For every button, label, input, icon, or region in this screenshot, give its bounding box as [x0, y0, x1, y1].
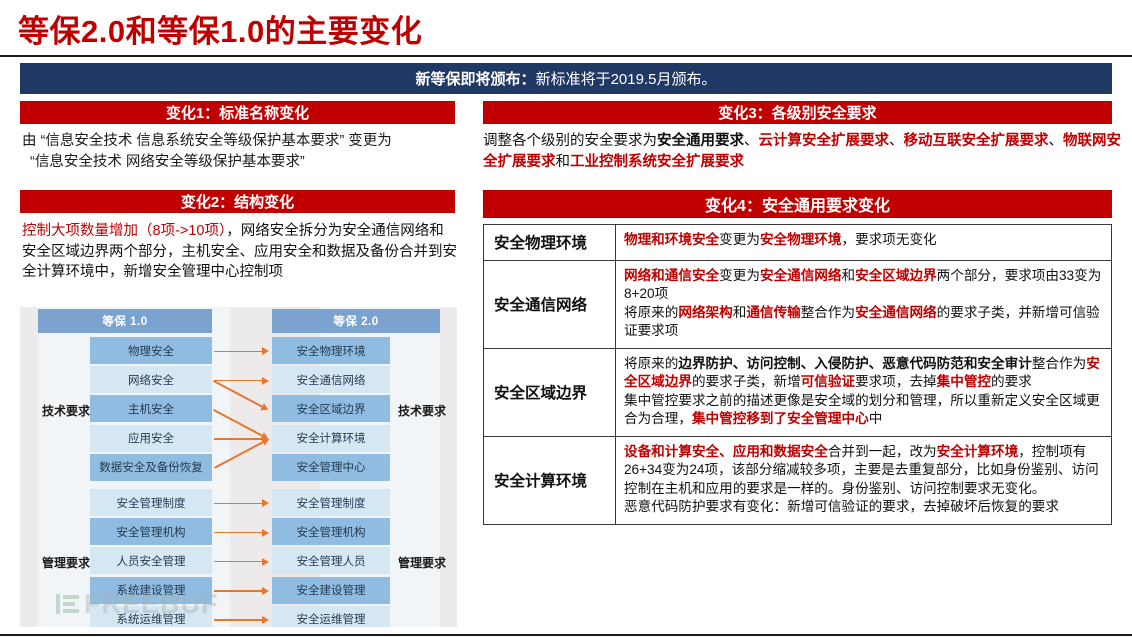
diagram-left-item: 物理安全 — [90, 337, 212, 364]
change3-seg-1: 安全通用要求 — [657, 133, 744, 149]
diagram-right-item: 安全物理环境 — [272, 337, 390, 364]
table-row-value: 网络和通信安全变更为安全通信网络和安全区域边界两个部分，要求项由33变为8+20… — [616, 261, 1112, 349]
change2-body: 控制大项数量增加（8项->10项），网络安全拆分为安全通信网络和安全区域边界两个… — [22, 221, 458, 283]
table-cell-paragraph: 恶意代码防护要求有变化：新增可信验证的要求，去掉破坏后恢复的要求 — [624, 498, 1104, 516]
diagram-right-item: 安全通信网络 — [272, 366, 390, 393]
r2p0-seg-6: 要求项，去掉 — [855, 374, 937, 389]
change3-seg-2: 、 — [744, 133, 759, 149]
r2p1-seg-1: 集中管控移到了安全管理中心 — [692, 411, 869, 426]
diagram-side-label: 技术要求 — [398, 402, 446, 419]
announcement-banner: 新等保即将颁布：新标准将于2019.5月颁布。 — [20, 63, 1112, 94]
diagram-right-item: 安全运维管理 — [272, 606, 390, 627]
table-cell-paragraph: 集中管控要求之前的描述更像是安全域的划分和管理，所以重新定义安全区域更合为合理，… — [624, 392, 1104, 429]
table-row-value: 物理和环境安全变更为安全物理环境，要求项无变化 — [616, 225, 1112, 261]
change3-seg-5: 移动互联安全扩展要求 — [904, 133, 1049, 149]
diagram-left-item: 安全管理机构 — [90, 518, 212, 545]
table-row-value: 将原来的边界防护、访问控制、入侵防护、恶意代码防范和安全审计整合作为安全区域边界… — [616, 348, 1112, 436]
r3p0-seg-1: 合并到一起，改为 — [828, 444, 937, 459]
r2p0-seg-2: 整合作为 — [1032, 356, 1086, 371]
change4-table: 安全物理环境物理和环境安全变更为安全物理环境，要求项无变化安全通信网络网络和通信… — [483, 224, 1112, 525]
r1p0-seg-0: 网络和通信安全 — [624, 268, 719, 283]
diagram-side-label: 管理要求 — [398, 554, 446, 571]
r2p0-seg-8: 的要求 — [991, 374, 1032, 389]
r0p0-seg-2: 安全物理环境 — [760, 232, 842, 247]
r3p1-seg-0: 恶意代码防护要求有变化：新增可信验证的要求，去掉破坏后恢复的要求 — [624, 499, 1059, 514]
diagram-right-item: 安全管理制度 — [272, 489, 390, 516]
table-cell-paragraph: 网络和通信安全变更为安全通信网络和安全区域边界两个部分，要求项由33变为8+20… — [624, 267, 1104, 304]
section-header-change3: 变化3：各级别安全要求 — [483, 101, 1112, 124]
r0p0-seg-0: 物理和环境安全 — [624, 232, 719, 247]
change2-red-lead: 控制大项数量增加（8项->10项） — [22, 223, 226, 239]
r1p1-seg-2: 和 — [733, 305, 747, 320]
freebuf-watermark: FREEBUF — [84, 589, 219, 620]
bottom-divider — [0, 634, 1132, 636]
change3-seg-6: 、 — [1049, 133, 1064, 149]
r0p0-seg-3: ，要求项无变化 — [842, 232, 937, 247]
r2p0-seg-7: 集中管控 — [937, 374, 991, 389]
r1p1-seg-1: 网络架构 — [678, 305, 732, 320]
r2p0-seg-1: 边界防护、访问控制、入侵防护、恶意代码防范和安全审计 — [678, 356, 1031, 371]
r1p1-seg-0: 将原来的 — [624, 305, 678, 320]
change3-seg-9: 工业控制系统安全扩展要求 — [570, 154, 744, 170]
diagram-right-header: 等保 2.0 — [272, 309, 440, 333]
table-cell-paragraph: 设备和计算安全、应用和数据安全合并到一起，改为安全计算环境，控制项有26+34变… — [624, 443, 1104, 498]
diagram-right-item: 安全区域边界 — [272, 395, 390, 422]
diagram-right-item: 安全管理机构 — [272, 518, 390, 545]
change3-seg-0: 调整各个级别的安全要求为 — [483, 133, 657, 149]
r1p0-seg-2: 安全通信网络 — [760, 268, 842, 283]
table-row: 安全通信网络网络和通信安全变更为安全通信网络和安全区域边界两个部分，要求项由33… — [484, 261, 1112, 349]
r0p0-seg-1: 变更为 — [719, 232, 760, 247]
table-row: 安全计算环境设备和计算安全、应用和数据安全合并到一起，改为安全计算环境，控制项有… — [484, 436, 1112, 524]
table-cell-paragraph: 将原来的边界防护、访问控制、入侵防护、恶意代码防范和安全审计整合作为安全区域边界… — [624, 355, 1104, 392]
r1p0-seg-4: 安全区域边界 — [855, 268, 937, 283]
diagram-right-item: 安全管理中心 — [272, 454, 390, 481]
announcement-bold: 新等保即将颁布： — [416, 68, 536, 89]
table-cell-paragraph: 物理和环境安全变更为安全物理环境，要求项无变化 — [624, 231, 1104, 249]
page-title: 等保2.0和等保1.0的主要变化 — [18, 6, 422, 51]
section-header-change2: 变化2：结构变化 — [20, 190, 455, 213]
slide-root: 等保2.0和等保1.0的主要变化 新等保即将颁布：新标准将于2019.5月颁布。… — [0, 0, 1132, 638]
diagram-left-header: 等保 1.0 — [38, 309, 212, 333]
diagram-left-item: 网络安全 — [90, 366, 212, 393]
change1-line1: 由 “信息安全技术 信息系统安全等级保护基本要求” 变更为 — [22, 131, 462, 152]
table-row: 安全区域边界将原来的边界防护、访问控制、入侵防护、恶意代码防范和安全审计整合作为… — [484, 348, 1112, 436]
diagram-left-item: 人员安全管理 — [90, 547, 212, 574]
diagram-left-item: 数据安全及备份恢复 — [90, 454, 212, 481]
change3-seg-8: 和 — [556, 154, 571, 170]
r2p1-seg-2: 中 — [869, 411, 883, 426]
change1-body: 由 “信息安全技术 信息系统安全等级保护基本要求” 变更为 “信息安全技术 网络… — [22, 131, 462, 172]
diagram-left-item: 主机安全 — [90, 395, 212, 422]
change3-body: 调整各个级别的安全要求为安全通用要求、云计算安全扩展要求、移动互联安全扩展要求、… — [483, 131, 1123, 173]
diagram-left-item: 应用安全 — [90, 425, 212, 452]
r1p1-seg-5: 安全通信网络 — [855, 305, 937, 320]
table-row-key: 安全计算环境 — [484, 436, 616, 524]
r1p1-seg-3: 通信传输 — [746, 305, 800, 320]
r1p0-seg-1: 变更为 — [719, 268, 760, 283]
diagram-side-label: 管理要求 — [42, 554, 90, 571]
change3-seg-3: 云计算安全扩展要求 — [759, 133, 890, 149]
section-header-change1: 变化1：标准名称变化 — [20, 101, 455, 124]
watermark-bars — [56, 592, 82, 616]
section-header-change4: 变化4：安全通用要求变化 — [483, 190, 1112, 218]
diagram-side-label: 技术要求 — [42, 402, 90, 419]
table-row-key: 安全物理环境 — [484, 225, 616, 261]
table-row-key: 安全区域边界 — [484, 348, 616, 436]
announcement-rest: 新标准将于2019.5月颁布。 — [536, 68, 717, 89]
r2p0-seg-5: 可信验证 — [801, 374, 855, 389]
r1p1-seg-4: 整合作为 — [801, 305, 855, 320]
change1-line2: “信息安全技术 网络安全等级保护基本要求” — [22, 152, 462, 173]
r3p0-seg-0: 设备和计算安全、应用和数据安全 — [624, 444, 828, 459]
title-divider — [0, 55, 1132, 57]
r2p0-seg-4: 的要求子类，新增 — [692, 374, 801, 389]
diagram-right-item: 安全计算环境 — [272, 425, 390, 452]
r1p0-seg-3: 和 — [842, 268, 856, 283]
mapping-diagram: 等保 1.0 等保 2.0 物理安全网络安全主机安全应用安全数据安全及备份恢复安… — [20, 307, 457, 627]
change3-seg-4: 、 — [889, 133, 904, 149]
r2p0-seg-0: 将原来的 — [624, 356, 678, 371]
table-row-key: 安全通信网络 — [484, 261, 616, 349]
table-cell-paragraph: 将原来的网络架构和通信传输整合作为安全通信网络的要求子类，并新增可信验证要求项 — [624, 304, 1104, 341]
table-row-value: 设备和计算安全、应用和数据安全合并到一起，改为安全计算环境，控制项有26+34变… — [616, 436, 1112, 524]
diagram-right-item: 安全管理人员 — [272, 547, 390, 574]
diagram-right-item: 安全建设管理 — [272, 577, 390, 604]
r3p0-seg-2: 安全计算环境 — [937, 444, 1019, 459]
diagram-left-item: 安全管理制度 — [90, 489, 212, 516]
table-row: 安全物理环境物理和环境安全变更为安全物理环境，要求项无变化 — [484, 225, 1112, 261]
